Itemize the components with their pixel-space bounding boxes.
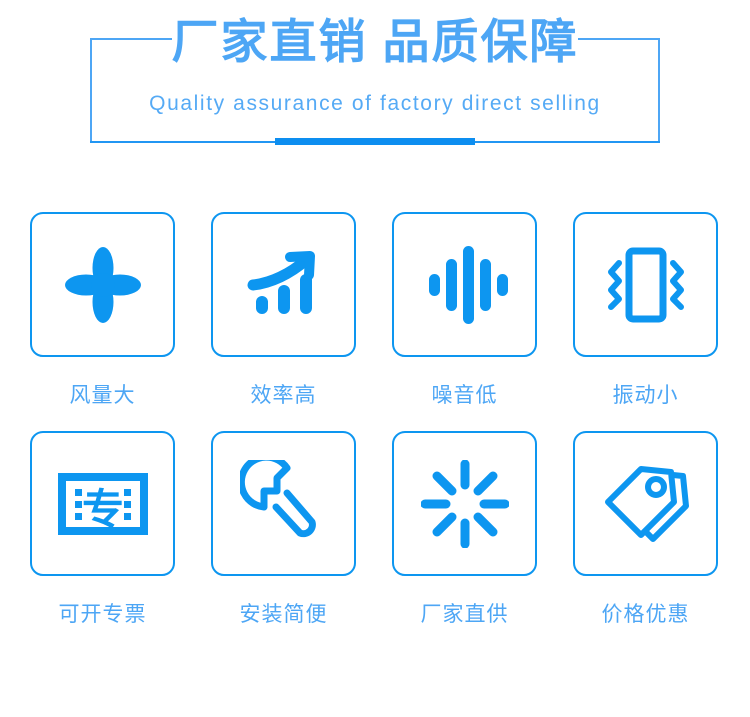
svg-text:专: 专 xyxy=(81,486,123,533)
feature-card-low-vibration xyxy=(573,212,718,357)
feature-card-invoice: 专 xyxy=(30,431,175,576)
banner-subtitle: Quality assurance of factory direct sell… xyxy=(90,92,660,116)
invoice-ticket-icon: 专 xyxy=(57,458,149,550)
rising-bar-chart-icon xyxy=(240,241,328,329)
feature-card-good-price xyxy=(573,431,718,576)
feature-card-direct-supply xyxy=(392,431,537,576)
feature-card-airflow xyxy=(30,212,175,357)
feature-item-direct-supply: 厂家直供 xyxy=(392,431,537,628)
fan-blades-icon xyxy=(59,241,147,329)
banner-accent-bar xyxy=(275,138,475,145)
feature-grid: 风量大 效率高 xyxy=(30,212,720,628)
feature-label: 振动小 xyxy=(613,379,679,409)
price-tag-icon xyxy=(601,459,691,549)
header-banner: 厂家直销 品质保障 Quality assurance of factory d… xyxy=(90,38,660,143)
feature-label: 效率高 xyxy=(251,379,317,409)
feature-item-efficiency: 效率高 xyxy=(211,212,356,409)
feature-item-easy-install: 安装简便 xyxy=(211,431,356,628)
feature-item-low-vibration: 振动小 xyxy=(573,212,718,409)
banner-title: 厂家直销 品质保障 xyxy=(90,16,660,68)
feature-item-good-price: 价格优惠 xyxy=(573,431,718,628)
feature-label: 噪音低 xyxy=(432,379,498,409)
feature-item-airflow: 风量大 xyxy=(30,212,175,409)
sound-waveform-icon xyxy=(421,241,509,329)
feature-label: 价格优惠 xyxy=(602,598,690,628)
feature-card-efficiency xyxy=(211,212,356,357)
feature-item-low-noise: 噪音低 xyxy=(392,212,537,409)
sunburst-icon xyxy=(421,460,509,548)
wrench-icon xyxy=(240,460,328,548)
feature-item-invoice: 专 可开专票 xyxy=(30,431,175,628)
feature-label: 风量大 xyxy=(70,379,136,409)
vibration-device-icon xyxy=(602,241,690,329)
feature-label: 可开专票 xyxy=(59,598,147,628)
feature-label: 安装简便 xyxy=(240,598,328,628)
feature-label: 厂家直供 xyxy=(421,598,509,628)
feature-card-low-noise xyxy=(392,212,537,357)
feature-card-easy-install xyxy=(211,431,356,576)
